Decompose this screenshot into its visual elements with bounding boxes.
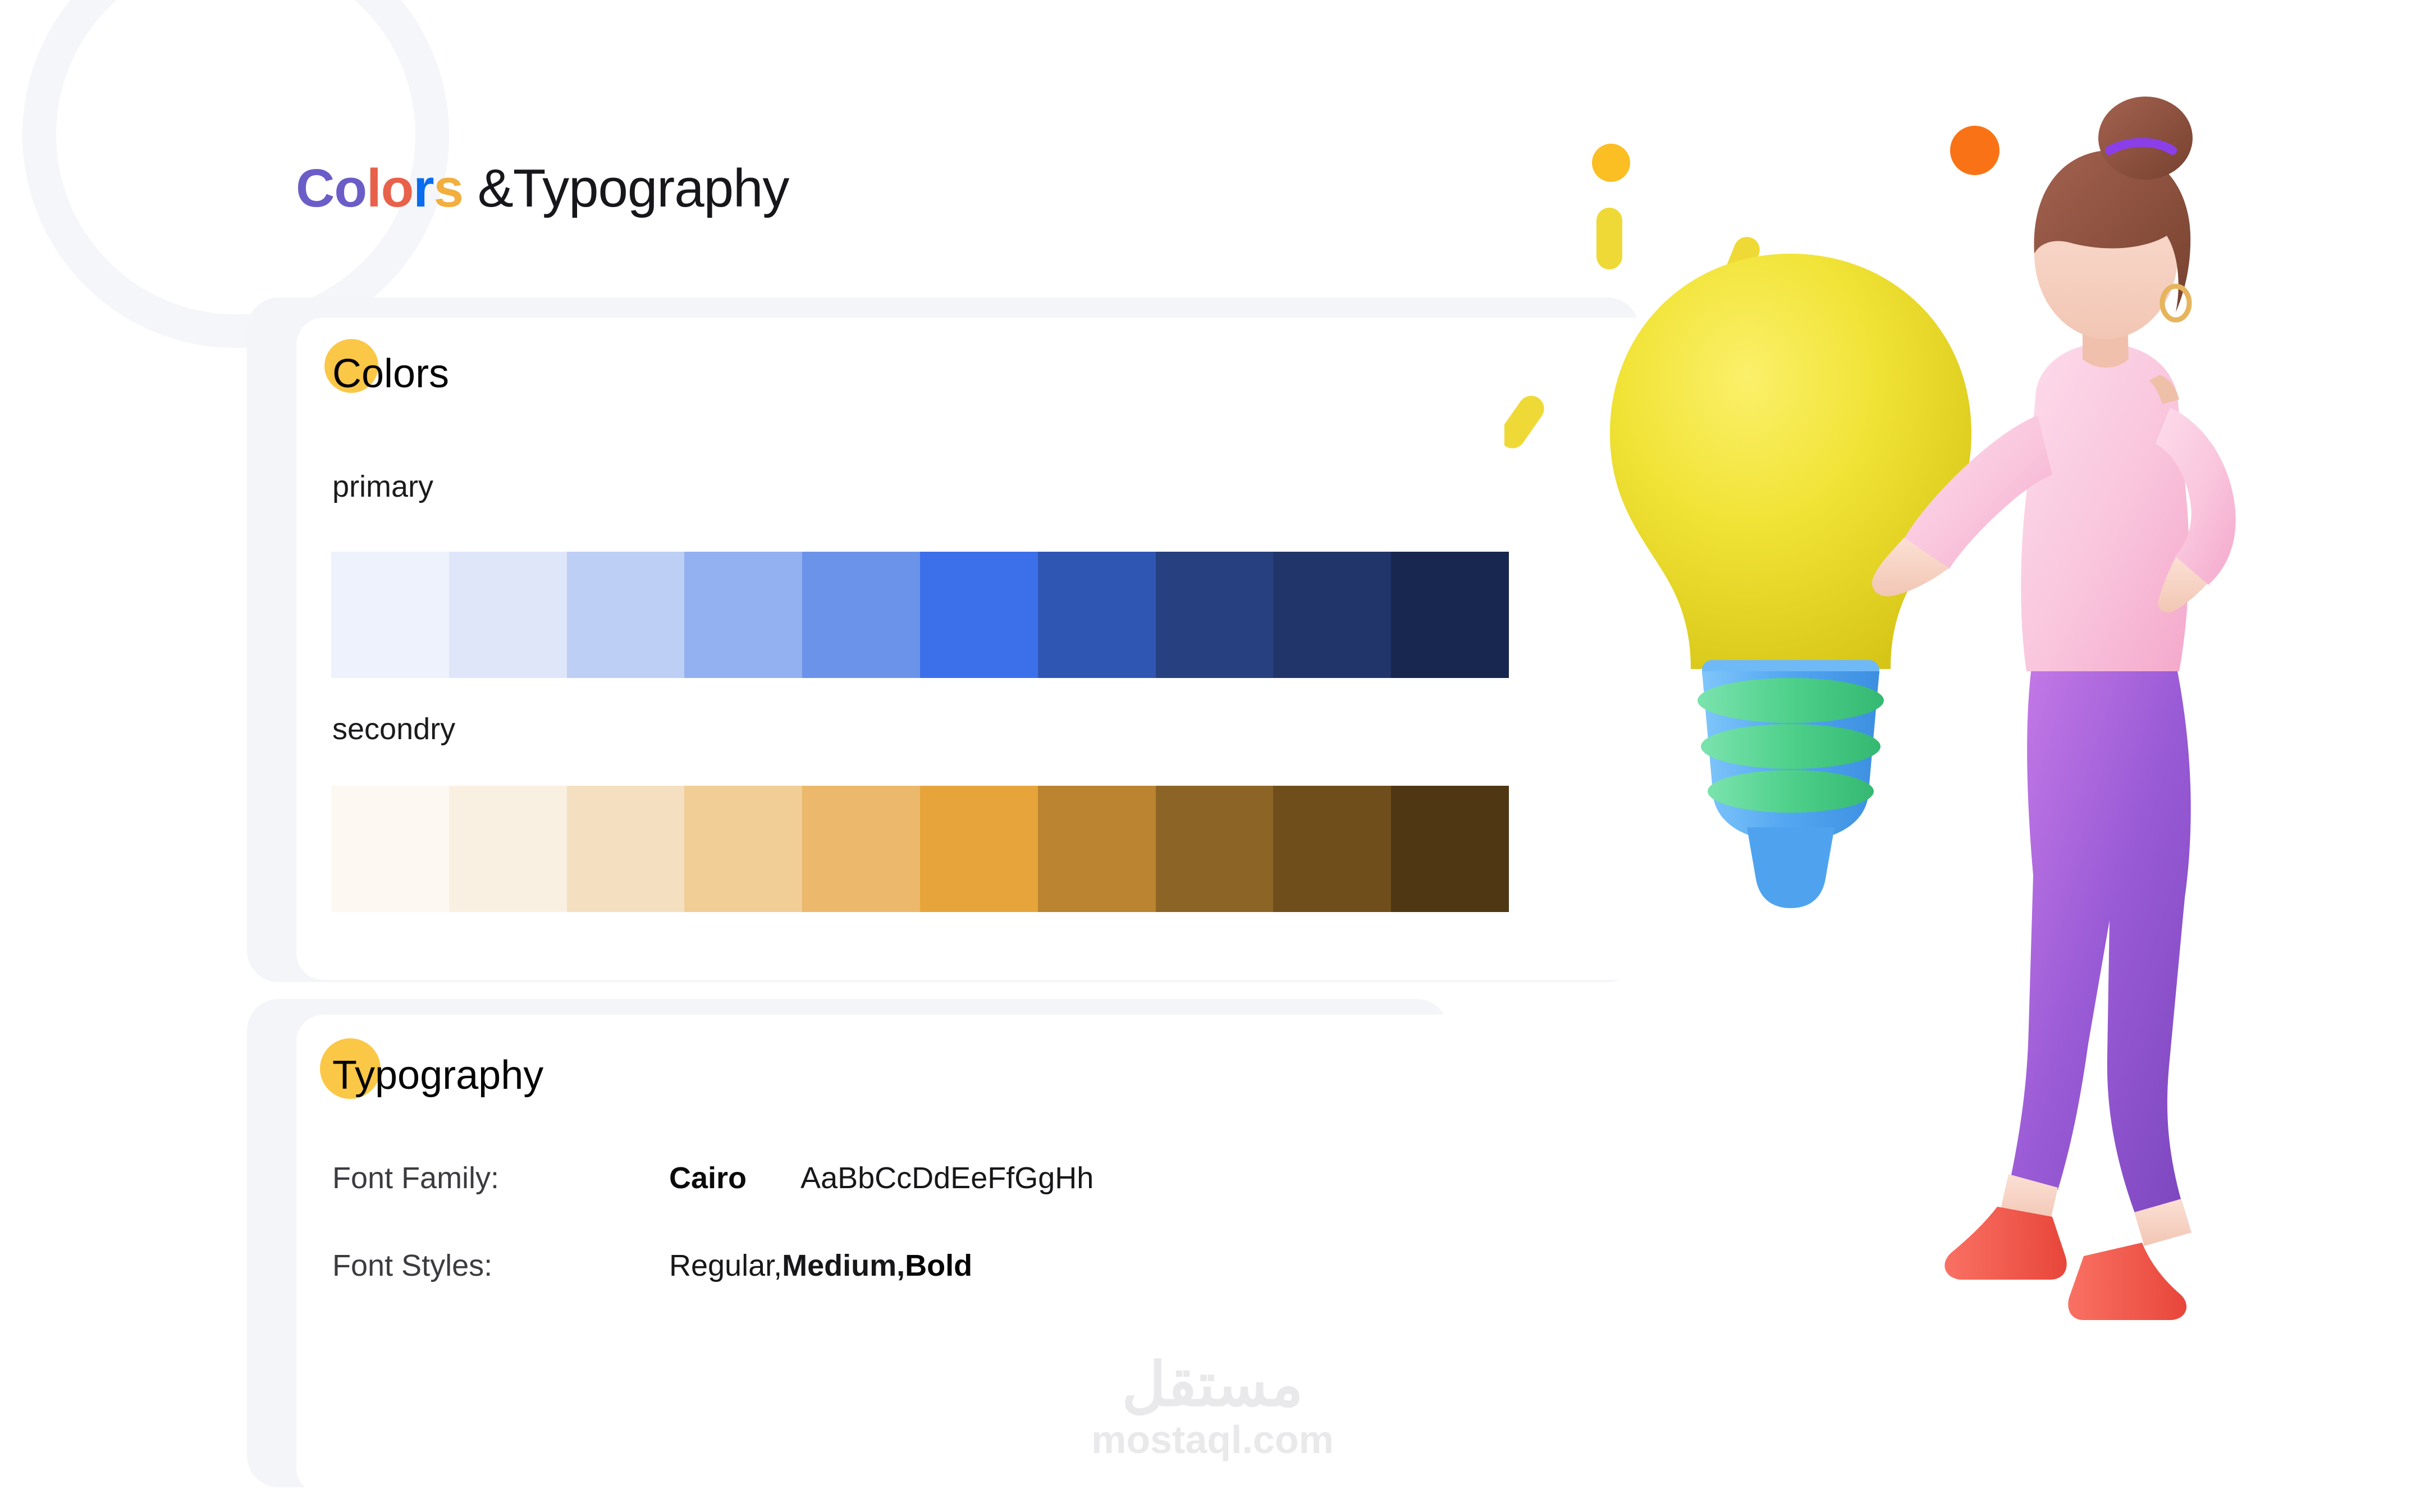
- title-letter-1: o: [334, 158, 367, 218]
- colors-card-heading: Colors: [332, 354, 449, 394]
- font-family-key: Font Family:: [332, 1163, 669, 1193]
- primary-group-label: primary: [332, 471, 433, 502]
- color-swatch[interactable]: [802, 552, 920, 678]
- typography-heading-label: Typography: [332, 1053, 543, 1098]
- earring: [2162, 286, 2189, 320]
- bulb-tip: [1747, 827, 1834, 908]
- pants: [2011, 662, 2191, 1215]
- font-family-row: Font Family: Cairo AaBbCcDdEeFfGgHh: [332, 1163, 1093, 1193]
- bulb-thread-1: [1697, 678, 1884, 723]
- color-swatch[interactable]: [331, 552, 449, 678]
- color-swatch[interactable]: [1391, 552, 1509, 678]
- color-swatch[interactable]: [1038, 552, 1156, 678]
- accent-dot-orange: [1950, 126, 2000, 175]
- typography-card-heading: Typography: [332, 1055, 543, 1096]
- title-letter-4: r: [413, 158, 433, 218]
- font-family-sample: AaBbCcDdEeFfGgHh: [800, 1163, 1093, 1193]
- color-swatch[interactable]: [1156, 552, 1274, 678]
- title-letter-3: o: [381, 158, 414, 218]
- font-family-value: Cairo: [669, 1163, 747, 1193]
- bulb-glass: [1610, 254, 1971, 669]
- page-title-colored-word: Colors: [296, 158, 463, 218]
- secondary-swatch-strip[interactable]: [331, 786, 1509, 912]
- color-swatch[interactable]: [684, 786, 802, 912]
- color-swatch[interactable]: [920, 552, 1038, 678]
- color-swatch[interactable]: [567, 552, 685, 678]
- accent-pill-yellow-4: [1504, 391, 1549, 453]
- font-style-bold: Bold: [905, 1250, 972, 1281]
- color-swatch[interactable]: [331, 786, 449, 912]
- color-swatch[interactable]: [449, 786, 567, 912]
- accent-dot-yellow: [1592, 144, 1630, 182]
- color-swatch[interactable]: [449, 552, 567, 678]
- title-letter-0: C: [296, 158, 334, 218]
- font-style-regular: Regular,: [669, 1250, 782, 1281]
- watermark: مستقل mostaql.com: [1055, 1353, 1370, 1463]
- color-swatch[interactable]: [1038, 786, 1156, 912]
- accent-pill-yellow-1: [1596, 208, 1622, 269]
- lightbulb-and-woman-illustration: [1504, 0, 2425, 1512]
- color-swatch[interactable]: [1273, 786, 1391, 912]
- bulb-thread-3: [1708, 770, 1874, 813]
- secondary-group-label: secondry: [332, 714, 455, 744]
- color-swatch[interactable]: [684, 552, 802, 678]
- title-letter-5: s: [434, 158, 463, 218]
- shoe-left: [1944, 1207, 2066, 1280]
- bulb-thread-2: [1701, 724, 1880, 769]
- title-letter-2: l: [367, 158, 381, 218]
- watermark-latin: mostaql.com: [1055, 1416, 1370, 1463]
- primary-swatch-strip[interactable]: [331, 552, 1509, 678]
- font-styles-row: Font Styles: Regular, Medium, Bold: [332, 1250, 972, 1281]
- page-title-rest: &Typography: [463, 158, 789, 218]
- font-style-medium: Medium,: [782, 1250, 905, 1281]
- color-swatch[interactable]: [1391, 786, 1509, 912]
- page-title: Colors &Typography: [296, 162, 789, 216]
- color-swatch[interactable]: [567, 786, 685, 912]
- woman-figure: [1872, 97, 2236, 1320]
- color-swatch[interactable]: [920, 786, 1038, 912]
- color-swatch[interactable]: [1156, 786, 1274, 912]
- watermark-arabic: مستقل: [1055, 1353, 1370, 1416]
- color-swatch[interactable]: [1273, 552, 1391, 678]
- color-swatch[interactable]: [802, 786, 920, 912]
- font-styles-key: Font Styles:: [332, 1250, 669, 1281]
- colors-heading-label: Colors: [332, 351, 449, 396]
- shoe-right: [2068, 1243, 2186, 1320]
